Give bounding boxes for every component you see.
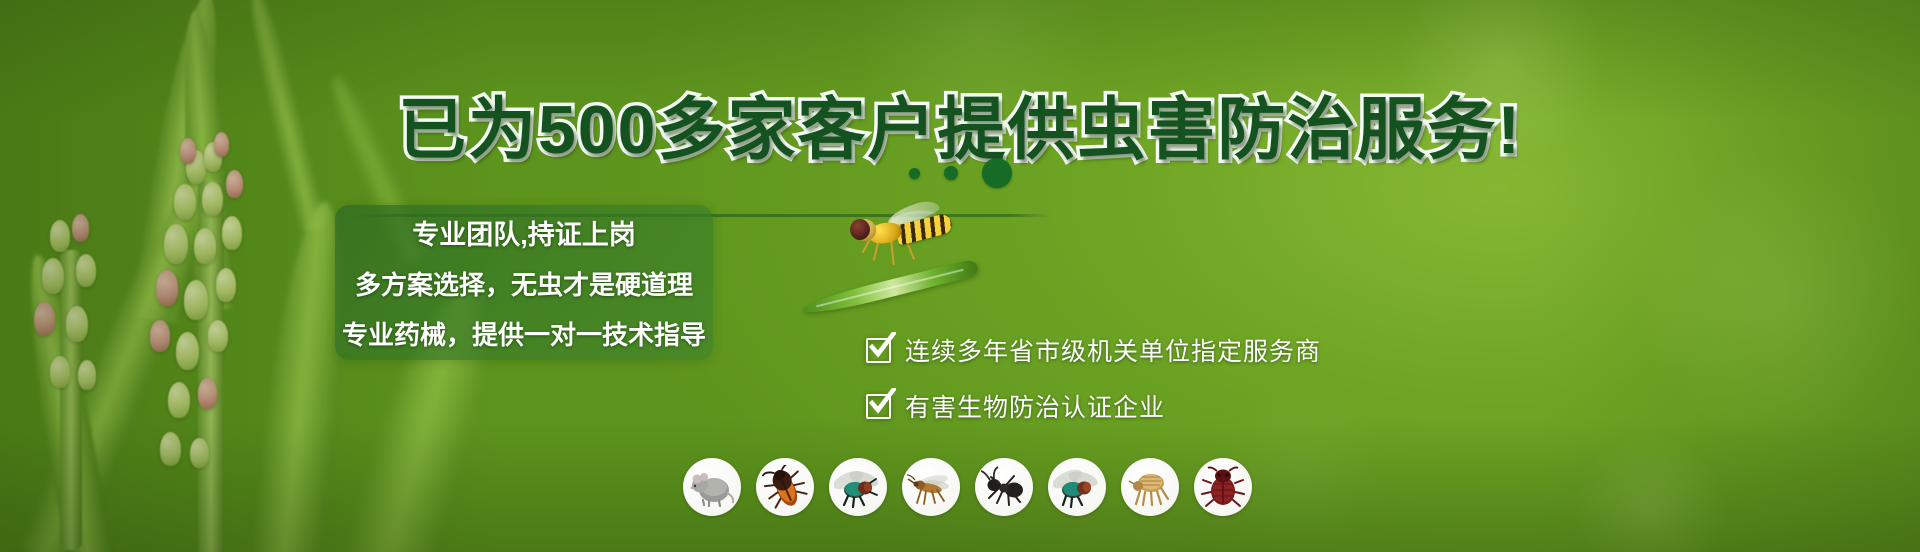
list-item: 连续多年省市级机关单位指定服务商 — [866, 332, 1321, 368]
leaf-stem — [801, 258, 980, 318]
pest-icon-mouse[interactable] — [683, 458, 741, 516]
selling-point-line-2: 多方案选择，无虫才是硬道理 — [355, 265, 693, 302]
credentials-list: 连续多年省市级机关单位指定服务商 有害生物防治认证企业 — [866, 332, 1321, 424]
decorative-dots — [0, 158, 1920, 188]
credential-label: 有害生物防治认证企业 — [905, 388, 1165, 424]
hoverfly-on-leaf-decoration — [800, 250, 990, 320]
pest-icon-ant[interactable] — [975, 458, 1033, 516]
selling-point-line-3: 专业药械，提供一对一技术指导 — [342, 315, 706, 352]
credential-label: 连续多年省市级机关单位指定服务商 — [905, 332, 1321, 368]
decor-dot-medium — [944, 166, 958, 180]
checkbox-checked-icon — [866, 394, 891, 419]
pest-types-row — [683, 458, 1252, 516]
list-item: 有害生物防治认证企业 — [866, 388, 1321, 424]
pest-icon-blowfly[interactable] — [1048, 458, 1106, 516]
pest-icon-flea[interactable] — [1121, 458, 1179, 516]
pest-icon-cockroach[interactable] — [756, 458, 814, 516]
pest-icon-fly[interactable] — [829, 458, 887, 516]
pest-icon-bedbug[interactable] — [1194, 458, 1252, 516]
decor-dot-small — [909, 168, 920, 179]
pest-icon-mosquito[interactable] — [902, 458, 960, 516]
selling-points-panel: 专业团队,持证上岗 多方案选择，无虫才是硬道理 专业药械，提供一对一技术指导 — [335, 205, 713, 360]
decor-dot-large — [982, 158, 1012, 188]
hoverfly-icon — [848, 205, 958, 263]
checkbox-checked-icon — [866, 338, 891, 363]
selling-point-line-1: 专业团队,持证上岗 — [412, 213, 636, 252]
hero-banner: 已为500多家客户提供虫害防治服务! 专业团队,持证上岗 多方案选择，无虫才是硬… — [0, 0, 1920, 552]
